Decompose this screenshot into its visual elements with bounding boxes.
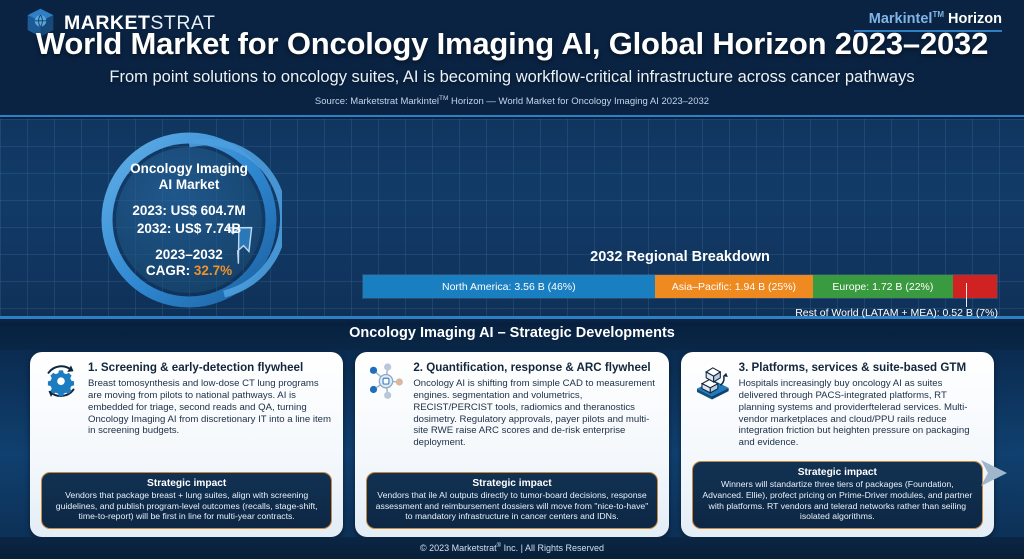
regional-segment-1: Asia–Pacific: 1.94 B (25%) [655, 275, 814, 298]
card-title: 1. Screening & early-detection flywheel [88, 361, 332, 375]
section-title: Oncology Imaging AI – Strategic Developm… [0, 325, 1024, 341]
markintel-label: Markintel [869, 11, 933, 27]
strategic-developments-cards: 1. Screening & early-detection flywheelB… [0, 352, 1024, 537]
footer: © 2023 Marketstrat® Inc. | All Rights Re… [0, 537, 1024, 559]
network-hub-icon [366, 362, 406, 400]
regional-segment-label: Europe: 1.72 B (22%) [832, 281, 933, 293]
card-body-text: Breast tomosynthesis and low-dose CT lun… [88, 378, 332, 437]
strategic-card-3[interactable]: 3. Platforms, services & suite-based GTM… [681, 352, 994, 537]
gear-cycle-icon [41, 362, 81, 400]
donut-cagr: CAGR: 32.7% [146, 263, 232, 279]
card-header: 1. Screening & early-detection flywheelB… [41, 361, 332, 437]
strategic-impact-title: Strategic impact [701, 467, 974, 478]
copyright-text: © 2023 Marketstrat® Inc. | All Rights Re… [420, 543, 604, 553]
card-arrow-tail-icon [981, 456, 1007, 490]
strategic-impact-title: Strategic impact [375, 478, 648, 489]
card-title: 2. Quantification, response & ARC flywhe… [413, 361, 657, 375]
gear-cycle-icon [41, 362, 81, 400]
donut-value-2023: 2023: US$ 604.7M [132, 203, 245, 219]
donut-cagr-prefix: CAGR: [146, 263, 194, 278]
source-post: Horizon — World Market for Oncology Imag… [448, 96, 709, 107]
strategic-impact-text: Winners will standartize three tiers of … [701, 479, 974, 522]
horizon-label: Horizon [948, 11, 1002, 27]
copyright-post: Inc. | All Rights Reserved [501, 543, 604, 553]
strategic-card-1[interactable]: 1. Screening & early-detection flywheelB… [30, 352, 343, 537]
donut-title: Oncology Imaging AI Market [119, 161, 259, 193]
strategic-impact-box: Strategic impactWinners will standartize… [692, 461, 983, 529]
card-text-column: 1. Screening & early-detection flywheelB… [88, 361, 332, 437]
market-donut: Oncology Imaging AI Market 2023: US$ 604… [96, 127, 282, 313]
rest-of-world-caption: Rest of World (LATAM + MEA): 0.52 B (7%) [362, 307, 998, 319]
regional-segment-0: North America: 3.56 B (46%) [363, 275, 655, 298]
page-subtitle: From point solutions to oncology suites,… [0, 68, 1024, 87]
donut-value-2032: 2032: US$ 7.74B [137, 221, 241, 237]
donut-labels: Oncology Imaging AI Market 2023: US$ 604… [96, 127, 282, 313]
card-body-text: Oncology AI is shifting from simple CAD … [413, 378, 657, 449]
regional-breakdown-bar: North America: 3.56 B (46%)Asia–Pacific:… [362, 274, 998, 299]
card-body-text: Hospitals increasingly buy oncology AI a… [739, 378, 983, 449]
card-title: 3. Platforms, services & suite-based GTM [739, 361, 983, 375]
regional-segment-2: Europe: 1.72 B (22%) [813, 275, 952, 298]
strategic-impact-box: Strategic impactVendors that ile AI outp… [366, 472, 657, 529]
header: MARKETSTRAT MarkintelTM Horizon World Ma… [0, 0, 1024, 117]
strategic-impact-title: Strategic impact [50, 478, 323, 489]
strategic-impact-text: Vendors that package breast + lung suite… [50, 490, 323, 522]
stacked-boxes-icon [692, 362, 732, 400]
donut-title-line2: AI Market [159, 177, 220, 192]
card-text-column: 3. Platforms, services & suite-based GTM… [739, 361, 983, 449]
source-pre: Source: Marketstrat Markintel [315, 96, 439, 107]
donut-title-line1: Oncology Imaging [130, 161, 248, 176]
regional-segment-3 [953, 275, 997, 298]
strategic-impact-box: Strategic impactVendors that package bre… [41, 472, 332, 529]
strategic-impact-text: Vendors that ile AI outputs directly to … [375, 490, 648, 522]
donut-cagr-value: 32.7% [194, 263, 232, 278]
card-header: 2. Quantification, response & ARC flywhe… [366, 361, 657, 449]
strategic-card-2[interactable]: 2. Quantification, response & ARC flywhe… [355, 352, 668, 537]
markintel-tm: TM [932, 10, 944, 19]
network-hub-icon [366, 362, 406, 400]
row-leader-tick [966, 283, 967, 307]
overview-band: Oncology Imaging AI Market 2023: US$ 604… [0, 119, 1024, 319]
donut-cagr-period: 2023–2032 [155, 247, 223, 263]
regional-breakdown-title: 2032 Regional Breakdown [362, 249, 998, 265]
page-title: World Market for Oncology Imaging AI, Gl… [0, 26, 1024, 62]
card-text-column: 2. Quantification, response & ARC flywhe… [413, 361, 657, 449]
stacked-boxes-icon [692, 362, 732, 400]
source-line: Source: Marketstrat MarkintelTM Horizon … [0, 95, 1024, 107]
regional-segment-label: Asia–Pacific: 1.94 B (25%) [672, 281, 796, 293]
infographic-root: MARKETSTRAT MarkintelTM Horizon World Ma… [0, 0, 1024, 559]
source-tm: TM [439, 95, 448, 102]
copyright-pre: © 2023 Marketstrat [420, 543, 497, 553]
regional-segment-label: North America: 3.56 B (46%) [442, 281, 576, 293]
card-header: 3. Platforms, services & suite-based GTM… [692, 361, 983, 449]
